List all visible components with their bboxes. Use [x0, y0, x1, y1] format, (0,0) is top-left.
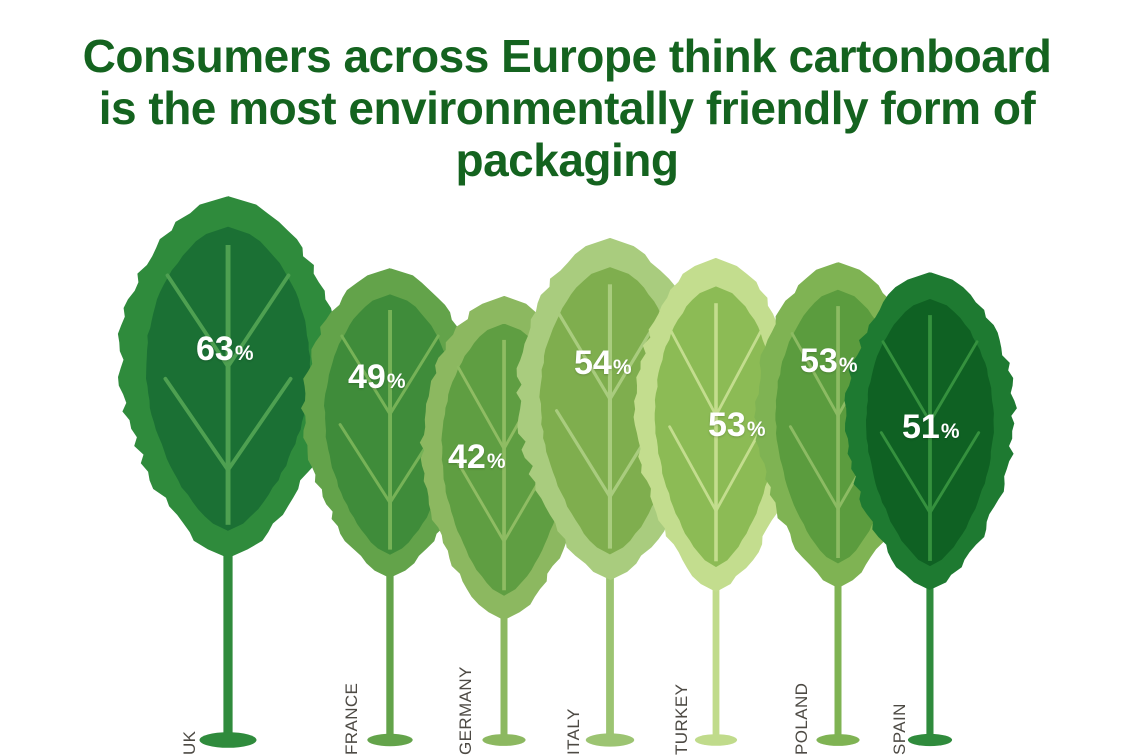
- percent-symbol: %: [839, 354, 858, 377]
- country-label-germany: GERMANY: [456, 666, 476, 755]
- percent-symbol: %: [387, 370, 406, 393]
- percent-symbol: %: [613, 356, 632, 379]
- value-label-spain: 51%: [902, 410, 960, 444]
- value-number: 49: [348, 358, 386, 396]
- value-number: 42: [448, 438, 486, 476]
- percent-symbol: %: [941, 420, 960, 443]
- country-label-spain: SPAIN: [890, 703, 910, 755]
- value-number: 53: [800, 342, 838, 380]
- value-label-italy: 54%: [574, 346, 632, 380]
- value-number: 54: [574, 344, 612, 382]
- infographic-canvas: Consumers across Europe think cartonboar…: [0, 0, 1134, 756]
- value-label-germany: 42%: [448, 440, 506, 474]
- value-number: 53: [708, 406, 746, 444]
- percent-symbol: %: [235, 342, 254, 365]
- country-label-turkey: TURKEY: [672, 684, 692, 755]
- leaf-chart: [0, 0, 1134, 756]
- leaf-spain[interactable]: [0, 0, 1134, 756]
- value-number: 63: [196, 330, 234, 368]
- country-label-uk: UK: [180, 731, 200, 755]
- percent-symbol: %: [747, 418, 766, 441]
- value-label-turkey: 53%: [708, 408, 766, 442]
- value-label-uk: 63%: [196, 332, 254, 366]
- value-label-poland: 53%: [800, 344, 858, 378]
- value-label-france: 49%: [348, 360, 406, 394]
- percent-symbol: %: [487, 450, 506, 473]
- country-label-italy: ITALY: [564, 708, 584, 755]
- country-label-france: FRANCE: [342, 683, 362, 755]
- value-number: 51: [902, 408, 940, 446]
- stem-base: [908, 734, 952, 746]
- country-label-poland: POLAND: [792, 683, 812, 755]
